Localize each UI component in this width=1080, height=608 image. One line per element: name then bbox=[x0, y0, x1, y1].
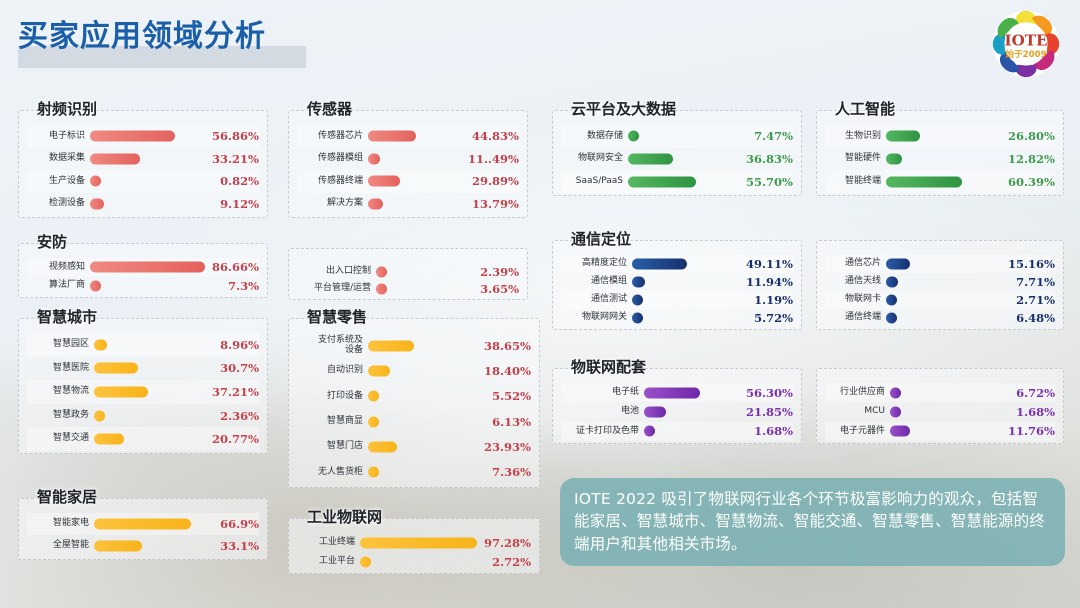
chart-row: 智能家电66.9% bbox=[27, 513, 259, 535]
chart-bar bbox=[94, 386, 148, 397]
chart-value-label: 2.39% bbox=[465, 265, 519, 279]
chart-bar-track bbox=[90, 280, 205, 291]
chart-row-label: 自动识别 bbox=[297, 366, 368, 375]
chart-bar bbox=[632, 313, 643, 324]
chart-bar bbox=[368, 365, 390, 376]
chart-value-label: 38.65% bbox=[477, 339, 531, 353]
chart-row-label: 物联网卡 bbox=[825, 295, 886, 304]
chart-row: 传感器芯片44.83% bbox=[297, 125, 519, 148]
chart-bar-track bbox=[94, 363, 205, 374]
chart-row-label: 电子纸 bbox=[561, 388, 644, 397]
chart-row-label: 生产设备 bbox=[27, 177, 90, 186]
chart-value-label: 44.83% bbox=[465, 129, 519, 143]
chart-value-label: 36.83% bbox=[739, 152, 793, 166]
chart-row-label: 高精度定位 bbox=[561, 259, 632, 268]
chart-bar bbox=[90, 198, 104, 209]
chart-bar-track bbox=[368, 176, 465, 187]
chart-row: 生产设备0.82% bbox=[27, 170, 259, 193]
caption-box: IOTE 2022 吸引了物联网行业各个环节极富影响力的观众，包括智能家居、智慧… bbox=[560, 478, 1065, 566]
chart-bar bbox=[90, 176, 101, 187]
chart-bar bbox=[886, 313, 897, 324]
chart-value-label: 7.71% bbox=[1001, 275, 1055, 289]
chart-bar bbox=[90, 153, 140, 164]
chart-row-label: 智慧园区 bbox=[27, 340, 94, 349]
chart-bar bbox=[644, 426, 655, 437]
chart-panel-title: 云平台及大数据 bbox=[567, 98, 680, 119]
chart-row: 视频感知86.66% bbox=[27, 258, 259, 277]
slide-canvas: 买家应用领域分析 IOTE 始于2009 射频识别电子 bbox=[0, 0, 1080, 608]
chart-panel: 智慧零售支付系统及 设备38.65%自动识别18.40%打印设备5.52%智慧商… bbox=[288, 318, 540, 488]
chart-value-label: 0.82% bbox=[205, 174, 259, 188]
chart-panel: 安防视频感知86.66%算法厂商7.3% bbox=[18, 243, 268, 298]
chart-bar-track bbox=[628, 176, 739, 187]
chart-row-label: 电池 bbox=[561, 407, 644, 416]
chart-bar-track bbox=[368, 198, 465, 209]
chart-row-label: 智慧政务 bbox=[27, 411, 94, 420]
chart-bar bbox=[94, 410, 105, 421]
chart-value-label: 5.72% bbox=[739, 311, 793, 325]
chart-bar bbox=[886, 176, 962, 187]
chart-rows: 出入口控制2.39%平台管理/运营3.65% bbox=[289, 263, 527, 295]
chart-bar bbox=[90, 131, 175, 142]
chart-bar bbox=[90, 262, 205, 273]
chart-value-label: 13.79% bbox=[465, 197, 519, 211]
chart-bar-track bbox=[368, 365, 477, 376]
chart-row: 智能终端60.39% bbox=[825, 170, 1055, 193]
chart-row: SaaS/PaaS55.70% bbox=[561, 170, 793, 193]
chart-value-label: 21.85% bbox=[739, 405, 793, 419]
chart-bar-track bbox=[644, 426, 739, 437]
chart-value-label: 33.21% bbox=[205, 152, 259, 166]
chart-bar bbox=[886, 295, 897, 306]
chart-bar-track bbox=[644, 387, 739, 398]
chart-bar bbox=[368, 416, 379, 427]
chart-row: 出入口控制2.39% bbox=[297, 263, 519, 280]
chart-value-label: 7.36% bbox=[477, 465, 531, 479]
chart-bar-track bbox=[90, 153, 205, 164]
chart-bar-track bbox=[94, 434, 205, 445]
chart-value-label: 2.72% bbox=[477, 555, 531, 569]
chart-row: 通信天线7.71% bbox=[825, 273, 1055, 291]
chart-bar bbox=[644, 406, 666, 417]
chart-bar-track bbox=[368, 416, 477, 427]
chart-row-label: 通信测试 bbox=[561, 295, 632, 304]
chart-bar-track bbox=[376, 283, 465, 294]
chart-row: 智慧门店23.93% bbox=[297, 434, 531, 459]
chart-bar bbox=[632, 295, 643, 306]
chart-bar bbox=[890, 406, 901, 417]
chart-bar bbox=[886, 259, 910, 270]
chart-row: 全屋智能33.1% bbox=[27, 535, 259, 557]
chart-row: 电子纸56.30% bbox=[561, 383, 793, 402]
chart-bar-track bbox=[94, 541, 205, 552]
chart-row-label: 电子元器件 bbox=[825, 427, 890, 436]
chart-rows: 智慧园区8.96%智慧医院30.7%智慧物流37.21%智慧政务2.36%智慧交… bbox=[19, 333, 267, 449]
chart-row-label: 检测设备 bbox=[27, 199, 90, 208]
chart-value-label: 5.52% bbox=[477, 389, 531, 403]
chart-row: 解决方案13.79% bbox=[297, 193, 519, 216]
chart-panel: 通信芯片15.16%通信天线7.71%物联网卡2.71%通信终端6.48% bbox=[816, 240, 1064, 330]
chart-row-label: MCU bbox=[825, 407, 890, 416]
chart-bar bbox=[94, 339, 107, 350]
chart-bar bbox=[890, 426, 910, 437]
chart-row-label: 通信终端 bbox=[825, 313, 886, 322]
chart-row-label: 通信模组 bbox=[561, 277, 632, 286]
chart-bar-track bbox=[368, 467, 477, 478]
chart-row-label: 平台管理/运营 bbox=[297, 284, 376, 293]
chart-value-label: 6.13% bbox=[477, 415, 531, 429]
chart-panel: 行业供应商6.72%MCU1.68%电子元器件11.76% bbox=[816, 368, 1064, 444]
chart-row: 通信模组11.94% bbox=[561, 273, 793, 291]
chart-rows: 高精度定位49.11%通信模组11.94%通信测试1.19%物联网网关5.72% bbox=[553, 255, 801, 325]
chart-bar bbox=[886, 131, 920, 142]
chart-panel: 出入口控制2.39%平台管理/运营3.65% bbox=[288, 248, 528, 300]
chart-panel: 通信定位高精度定位49.11%通信模组11.94%通信测试1.19%物联网网关5… bbox=[552, 240, 802, 330]
chart-bar-track bbox=[886, 259, 1001, 270]
chart-panel: 人工智能生物识别26.80%智能硬件12.82%智能终端60.39% bbox=[816, 110, 1064, 196]
chart-row-label: 智能终端 bbox=[825, 177, 886, 186]
chart-bar bbox=[94, 434, 124, 445]
page-title-wrapper: 买家应用领域分析 bbox=[18, 22, 266, 52]
chart-row: 打印设备5.52% bbox=[297, 384, 531, 409]
chart-value-label: 6.72% bbox=[1001, 386, 1055, 400]
chart-bar-track bbox=[886, 313, 1001, 324]
chart-rows: 数据存储7.47%物联网安全36.83%SaaS/PaaS55.70% bbox=[553, 125, 801, 191]
chart-bar-track bbox=[632, 259, 739, 270]
chart-value-label: 12.82% bbox=[1001, 152, 1055, 166]
chart-bar-track bbox=[90, 198, 205, 209]
chart-rows: 视频感知86.66%算法厂商7.3% bbox=[19, 258, 267, 293]
chart-row-label: 生物识别 bbox=[825, 132, 886, 141]
chart-row: 智慧交通20.77% bbox=[27, 427, 259, 451]
chart-bar bbox=[376, 283, 387, 294]
chart-bar bbox=[368, 153, 380, 164]
chart-bar bbox=[632, 277, 645, 288]
chart-row-label: 视频感知 bbox=[27, 263, 90, 272]
chart-bar bbox=[368, 340, 414, 351]
chart-row: 通信芯片15.16% bbox=[825, 255, 1055, 273]
logo-name: IOTE bbox=[1005, 31, 1048, 49]
chart-row-label: 行业供应商 bbox=[825, 388, 890, 397]
chart-bar-track bbox=[890, 426, 1001, 437]
chart-bar-track bbox=[376, 266, 465, 277]
chart-row-label: 智慧商显 bbox=[297, 417, 368, 426]
chart-bar-track bbox=[94, 410, 205, 421]
chart-row: 无人售货柜7.36% bbox=[297, 460, 531, 485]
chart-value-label: 30.7% bbox=[205, 361, 259, 375]
chart-row-label: 全屋智能 bbox=[27, 541, 94, 550]
chart-bar-track bbox=[94, 519, 205, 530]
chart-row-label: 通信芯片 bbox=[825, 259, 886, 268]
chart-row: 行业供应商6.72% bbox=[825, 383, 1055, 402]
chart-row-label: 电子标识 bbox=[27, 132, 90, 141]
chart-bar-track bbox=[890, 387, 1001, 398]
chart-row: 传感器终端29.89% bbox=[297, 170, 519, 193]
chart-row: 电子元器件11.76% bbox=[825, 422, 1055, 441]
chart-panel-title: 射频识别 bbox=[33, 98, 101, 119]
chart-rows: 电子标识56.86%数据采集33.21%生产设备0.82%检测设备9.12% bbox=[19, 125, 267, 213]
chart-row: 平台管理/运营3.65% bbox=[297, 280, 519, 297]
chart-row: 工业平台2.72% bbox=[297, 552, 531, 571]
chart-panel-title: 智慧城市 bbox=[33, 306, 101, 327]
chart-bar-track bbox=[368, 391, 477, 402]
chart-rows: 电子纸56.30%电池21.85%证卡打印及色带1.68% bbox=[553, 383, 801, 439]
chart-row: 工业终端97.28% bbox=[297, 533, 531, 552]
chart-row-label: 智慧交通 bbox=[27, 434, 94, 443]
chart-row: 通信终端6.48% bbox=[825, 309, 1055, 327]
chart-row-label: 物联网安全 bbox=[561, 154, 628, 163]
chart-bar-track bbox=[886, 277, 1001, 288]
logo-subtitle: 始于2009 bbox=[1005, 48, 1046, 60]
chart-value-label: 18.40% bbox=[477, 364, 531, 378]
chart-bar-track bbox=[890, 406, 1001, 417]
chart-bar-track bbox=[628, 131, 739, 142]
chart-value-label: 11.76% bbox=[1001, 424, 1055, 438]
chart-row-label: 支付系统及 设备 bbox=[297, 336, 368, 355]
chart-row: 智慧医院30.7% bbox=[27, 357, 259, 381]
chart-row: 传感器模组11..49% bbox=[297, 148, 519, 171]
chart-panel: 智慧城市智慧园区8.96%智慧医院30.7%智慧物流37.21%智慧政务2.36… bbox=[18, 318, 268, 454]
chart-value-label: 66.9% bbox=[205, 517, 259, 531]
chart-row-label: 传感器芯片 bbox=[297, 132, 368, 141]
chart-panel-title: 传感器 bbox=[303, 98, 356, 119]
chart-row-label: 智慧门店 bbox=[297, 442, 368, 451]
chart-bar bbox=[360, 556, 371, 567]
chart-row: 检测设备9.12% bbox=[27, 193, 259, 216]
chart-rows: 支付系统及 设备38.65%自动识别18.40%打印设备5.52%智慧商显6.1… bbox=[289, 333, 539, 483]
chart-row-label: 解决方案 bbox=[297, 199, 368, 208]
chart-bar bbox=[90, 280, 101, 291]
chart-row: 通信测试1.19% bbox=[561, 291, 793, 309]
chart-panel-title: 物联网配套 bbox=[567, 356, 650, 377]
chart-bar-track bbox=[360, 556, 477, 567]
chart-bar bbox=[644, 387, 700, 398]
chart-rows: 智能家电66.9%全屋智能33.1% bbox=[19, 513, 267, 555]
chart-row-label: 物联网网关 bbox=[561, 313, 632, 322]
chart-row-label: 数据存储 bbox=[561, 132, 628, 141]
chart-row-label: 工业平台 bbox=[297, 557, 360, 566]
chart-bar bbox=[94, 363, 138, 374]
chart-row-label: 智慧物流 bbox=[27, 387, 94, 396]
chart-rows: 传感器芯片44.83%传感器模组11..49%传感器终端29.89%解决方案13… bbox=[289, 125, 527, 213]
chart-bar bbox=[368, 441, 397, 452]
chart-row: 电子标识56.86% bbox=[27, 125, 259, 148]
chart-value-label: 37.21% bbox=[205, 385, 259, 399]
chart-bar bbox=[886, 153, 902, 164]
chart-row: 电池21.85% bbox=[561, 402, 793, 421]
chart-panel: 物联网配套电子纸56.30%电池21.85%证卡打印及色带1.68% bbox=[552, 368, 802, 444]
chart-row: 智慧商显6.13% bbox=[297, 409, 531, 434]
chart-value-label: 7.47% bbox=[739, 129, 793, 143]
chart-panel-title: 安防 bbox=[33, 231, 71, 252]
chart-value-label: 33.1% bbox=[205, 539, 259, 553]
chart-value-label: 1.68% bbox=[739, 424, 793, 438]
chart-value-label: 56.86% bbox=[205, 129, 259, 143]
chart-bar-track bbox=[368, 441, 477, 452]
chart-row-label: 无人售货柜 bbox=[297, 468, 368, 477]
chart-bar bbox=[886, 277, 898, 288]
chart-rows: 工业终端97.28%工业平台2.72% bbox=[289, 533, 539, 569]
chart-row: 数据存储7.47% bbox=[561, 125, 793, 148]
chart-row-label: 智慧医院 bbox=[27, 364, 94, 373]
chart-row: 数据采集33.21% bbox=[27, 148, 259, 171]
chart-panel-title: 通信定位 bbox=[567, 228, 635, 249]
page-title: 买家应用领域分析 bbox=[18, 22, 266, 52]
chart-value-label: 6.48% bbox=[1001, 311, 1055, 325]
chart-row: 智能硬件12.82% bbox=[825, 148, 1055, 171]
chart-row-label: 传感器终端 bbox=[297, 177, 368, 186]
chart-bar-track bbox=[886, 176, 1001, 187]
chart-rows: 通信芯片15.16%通信天线7.71%物联网卡2.71%通信终端6.48% bbox=[817, 255, 1063, 325]
chart-row: 生物识别26.80% bbox=[825, 125, 1055, 148]
chart-row: 智慧政务2.36% bbox=[27, 404, 259, 428]
chart-bar bbox=[360, 537, 477, 548]
chart-value-label: 86.66% bbox=[205, 260, 259, 274]
chart-bar-track bbox=[632, 277, 739, 288]
chart-value-label: 20.77% bbox=[205, 432, 259, 446]
chart-panel-title: 智能家居 bbox=[33, 486, 101, 507]
chart-bar bbox=[368, 176, 400, 187]
chart-row: MCU1.68% bbox=[825, 402, 1055, 421]
chart-bar-track bbox=[632, 313, 739, 324]
chart-bar bbox=[628, 176, 696, 187]
chart-bar-track bbox=[368, 340, 477, 351]
chart-row: 算法厂商7.3% bbox=[27, 277, 259, 296]
chart-row-label: SaaS/PaaS bbox=[561, 177, 628, 186]
chart-bar-track bbox=[886, 295, 1001, 306]
chart-bar bbox=[368, 391, 379, 402]
chart-bar bbox=[376, 266, 387, 277]
chart-row: 支付系统及 设备38.65% bbox=[297, 333, 531, 358]
chart-value-label: 23.93% bbox=[477, 440, 531, 454]
chart-row-label: 工业终端 bbox=[297, 538, 360, 547]
chart-row: 证卡打印及色带1.68% bbox=[561, 422, 793, 441]
chart-bar bbox=[368, 131, 416, 142]
chart-row-label: 智能硬件 bbox=[825, 154, 886, 163]
chart-rows: 生物识别26.80%智能硬件12.82%智能终端60.39% bbox=[817, 125, 1063, 191]
chart-row-label: 出入口控制 bbox=[297, 267, 376, 276]
chart-row: 自动识别18.40% bbox=[297, 358, 531, 383]
chart-row-label: 打印设备 bbox=[297, 392, 368, 401]
chart-row: 智慧园区8.96% bbox=[27, 333, 259, 357]
chart-panel-title: 智慧零售 bbox=[303, 306, 371, 327]
chart-value-label: 49.11% bbox=[739, 257, 793, 271]
chart-panel: 射频识别电子标识56.86%数据采集33.21%生产设备0.82%检测设备9.1… bbox=[18, 110, 268, 218]
chart-panel: 工业物联网工业终端97.28%工业平台2.72% bbox=[288, 518, 540, 574]
chart-bar bbox=[890, 387, 901, 398]
chart-bar-track bbox=[628, 153, 739, 164]
chart-bar-track bbox=[644, 406, 739, 417]
chart-row: 高精度定位49.11% bbox=[561, 255, 793, 273]
chart-bar-track bbox=[90, 131, 205, 142]
chart-panel: 智能家居智能家电66.9%全屋智能33.1% bbox=[18, 498, 268, 560]
chart-row-label: 算法厂商 bbox=[27, 281, 90, 290]
chart-bar-track bbox=[632, 295, 739, 306]
chart-bar-track bbox=[94, 386, 205, 397]
chart-value-label: 1.19% bbox=[739, 293, 793, 307]
chart-panel: 云平台及大数据数据存储7.47%物联网安全36.83%SaaS/PaaS55.7… bbox=[552, 110, 802, 196]
chart-value-label: 7.3% bbox=[205, 279, 259, 293]
chart-bar bbox=[94, 541, 142, 552]
chart-value-label: 60.39% bbox=[1001, 175, 1055, 189]
chart-bar bbox=[368, 467, 379, 478]
chart-panel-title: 人工智能 bbox=[831, 98, 899, 119]
chart-bar-track bbox=[90, 176, 205, 187]
chart-value-label: 2.71% bbox=[1001, 293, 1055, 307]
chart-value-label: 29.89% bbox=[465, 174, 519, 188]
chart-bar-track bbox=[360, 537, 477, 548]
chart-value-label: 56.30% bbox=[739, 386, 793, 400]
chart-rows: 行业供应商6.72%MCU1.68%电子元器件11.76% bbox=[817, 383, 1063, 439]
chart-bar-track bbox=[886, 153, 1001, 164]
chart-row: 物联网卡2.71% bbox=[825, 291, 1055, 309]
chart-value-label: 3.65% bbox=[465, 282, 519, 296]
chart-row-label: 通信天线 bbox=[825, 277, 886, 286]
chart-bar-track bbox=[90, 262, 205, 273]
chart-row-label: 证卡打印及色带 bbox=[561, 427, 644, 436]
chart-row-label: 传感器模组 bbox=[297, 154, 368, 163]
chart-row: 物联网网关5.72% bbox=[561, 309, 793, 327]
chart-bar-track bbox=[886, 131, 1001, 142]
chart-bar bbox=[94, 519, 191, 530]
chart-bar-track bbox=[368, 131, 465, 142]
chart-value-label: 1.68% bbox=[1001, 405, 1055, 419]
chart-panel: 传感器传感器芯片44.83%传感器模组11..49%传感器终端29.89%解决方… bbox=[288, 110, 528, 218]
chart-value-label: 11.94% bbox=[739, 275, 793, 289]
chart-row-label: 智能家电 bbox=[27, 519, 94, 528]
chart-bar bbox=[628, 153, 673, 164]
chart-row: 智慧物流37.21% bbox=[27, 380, 259, 404]
chart-value-label: 26.80% bbox=[1001, 129, 1055, 143]
chart-value-label: 9.12% bbox=[205, 197, 259, 211]
chart-value-label: 2.36% bbox=[205, 409, 259, 423]
chart-panel-title: 工业物联网 bbox=[303, 506, 386, 527]
chart-bar bbox=[628, 131, 639, 142]
chart-value-label: 55.70% bbox=[739, 175, 793, 189]
chart-value-label: 97.28% bbox=[477, 536, 531, 550]
chart-bar-track bbox=[368, 153, 465, 164]
chart-row: 物联网安全36.83% bbox=[561, 148, 793, 171]
chart-bar bbox=[632, 259, 687, 270]
chart-value-label: 11..49% bbox=[465, 152, 519, 166]
chart-bar bbox=[368, 198, 383, 209]
chart-row-label: 数据采集 bbox=[27, 154, 90, 163]
chart-bar-track bbox=[94, 339, 205, 350]
iote-logo: IOTE 始于2009 bbox=[990, 8, 1062, 80]
chart-value-label: 8.96% bbox=[205, 338, 259, 352]
chart-value-label: 15.16% bbox=[1001, 257, 1055, 271]
